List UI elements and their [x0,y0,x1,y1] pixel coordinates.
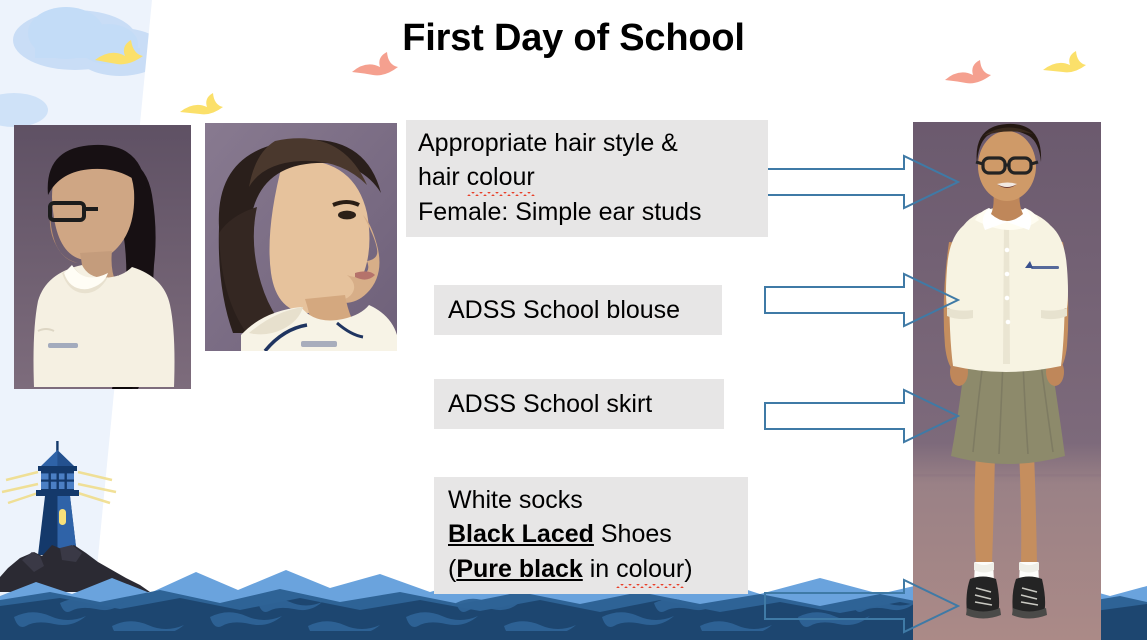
callout-footwear-line-1: White socks [448,483,748,517]
arrow-to-hair [764,154,960,210]
callout-blouse-text: ADSS School blouse [448,293,722,327]
spellcheck-word-colour-2: colour [616,555,684,583]
callout-hair-line-2-text: hair [418,163,467,191]
photo-profile-bob [205,123,397,351]
callout-footwear-line-2-rest: Shoes [594,520,672,548]
photo-profile-long [14,125,191,389]
callout-hair-line-1: Appropriate hair style & [418,126,756,160]
slide-canvas: First Day of School [0,0,1147,640]
arrow-to-blouse [764,272,960,328]
page-title: First Day of School [0,17,1147,60]
arrow-to-skirt [764,388,960,444]
arrow-to-footwear [764,578,960,634]
callout-footwear: White socks Black Laced Shoes (Pure blac… [434,477,748,594]
callout-hair: Appropriate hair style & hair colour Fem… [406,120,768,237]
callout-blouse: ADSS School blouse [434,285,722,335]
callout-footwear-line-3: (Pure black in colour) [448,552,748,586]
callout-hair-line-2: hair colour [418,160,756,194]
callout-hair-line-3: Female: Simple ear studs [418,195,756,229]
emphasis-black-laced: Black Laced [448,520,594,548]
callout-skirt-text: ADSS School skirt [448,387,724,421]
callout-footwear-line-3-mid: in [583,555,616,583]
paren-close: ) [684,555,692,583]
spellcheck-word-colour: colour [467,163,535,191]
emphasis-pure-black: Pure black [456,555,582,583]
callout-footwear-line-2: Black Laced Shoes [448,517,748,551]
callout-skirt: ADSS School skirt [434,379,724,429]
lighthouse [36,441,79,555]
